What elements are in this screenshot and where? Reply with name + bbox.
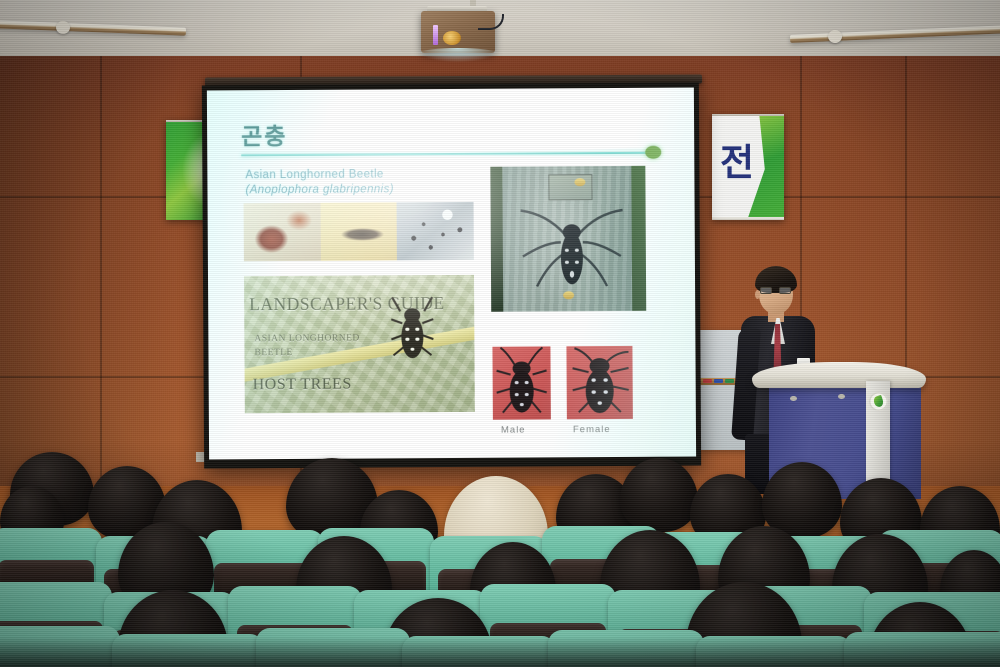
longhorned-beetle-figure bbox=[516, 192, 627, 305]
foreground-shadow bbox=[0, 637, 1000, 667]
lecture-hall-photo: 전 곤충 Asian Longhorned Beetle (Anoplophor… bbox=[0, 0, 1000, 667]
poster-subtitle-1: ASIAN LONGHORNED bbox=[254, 334, 359, 345]
marker-green bbox=[725, 379, 734, 383]
trunk-lichen-spot bbox=[574, 178, 585, 186]
presentation-slide: 곤충 Asian Longhorned Beetle (Anoplophora … bbox=[207, 88, 696, 460]
beetle-on-trunk-photo bbox=[490, 166, 646, 312]
banner-rod bbox=[712, 217, 784, 220]
beetle-larva-photo bbox=[320, 202, 397, 260]
female-beetle-card bbox=[566, 346, 632, 419]
banner-rod bbox=[712, 114, 784, 116]
projector-light-glow bbox=[415, 48, 501, 62]
maple-leaves-photo bbox=[244, 203, 321, 261]
poster-subtitle-2: BEETLE bbox=[254, 348, 292, 358]
podium-top bbox=[752, 362, 926, 388]
audience bbox=[0, 430, 1000, 667]
scientific-name: (Anoplophora glabripennis) bbox=[245, 182, 394, 198]
poster-footer: HOST TREES bbox=[253, 376, 352, 395]
photo-strip bbox=[244, 202, 474, 261]
title-underline bbox=[241, 152, 651, 157]
podium-fastener bbox=[790, 396, 797, 401]
projector-lens bbox=[443, 31, 461, 45]
bark-exit-holes-photo bbox=[397, 202, 474, 260]
banner-right-text: 전 bbox=[720, 144, 754, 181]
title-accent-dot bbox=[645, 146, 661, 159]
common-name: Asian Longhorned Beetle bbox=[245, 167, 394, 183]
podium-fastener bbox=[838, 394, 845, 399]
landscapers-guide-poster: LANDSCAPER'S GUIDE ASIAN LONGHORNED BEET… bbox=[244, 275, 475, 413]
male-beetle-card bbox=[492, 346, 550, 419]
trunk-foliage-left bbox=[490, 167, 503, 312]
projector-indicator-light bbox=[433, 25, 438, 45]
trunk-foliage-right bbox=[631, 166, 646, 311]
slide-title: 곤충 bbox=[241, 117, 288, 151]
banner-right: 전 bbox=[712, 114, 784, 220]
poster-beetle-illustration bbox=[390, 295, 434, 361]
audience-head bbox=[620, 458, 698, 532]
species-name-block: Asian Longhorned Beetle (Anoplophora gla… bbox=[245, 167, 394, 198]
projection-screen: 곤충 Asian Longhorned Beetle (Anoplophora … bbox=[202, 82, 701, 468]
green-leaf-emblem bbox=[869, 392, 888, 411]
glasses-icon bbox=[760, 287, 791, 294]
marker-blue bbox=[714, 379, 723, 383]
marker-red bbox=[703, 379, 712, 383]
